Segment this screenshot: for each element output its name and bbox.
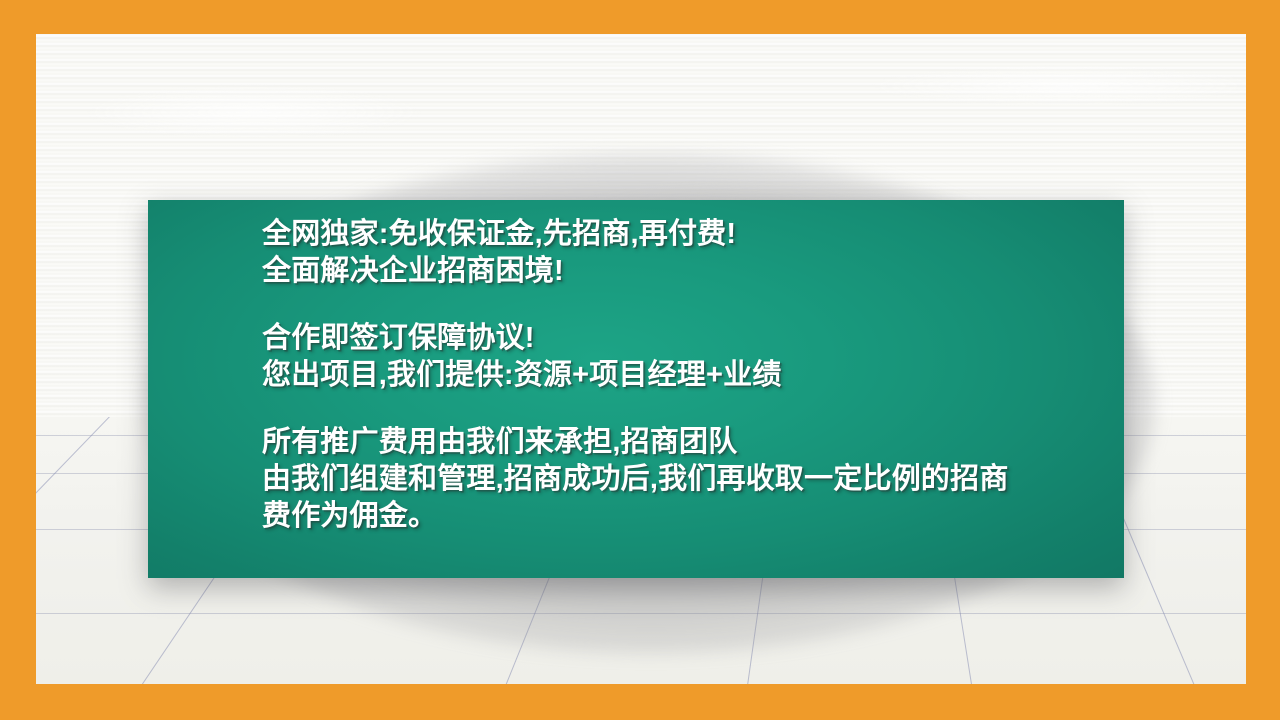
promo-line-1: 全网独家:免收保证金,先招商,再付费! bbox=[262, 216, 1104, 253]
promo-gap-2 bbox=[262, 394, 1104, 424]
floor-line-diagonal bbox=[1226, 417, 1246, 684]
frame-border-bottom bbox=[0, 684, 1280, 720]
promo-panel: 全网独家:免收保证金,先招商,再付费! 全面解决企业招商困境! 合作即签订保障协… bbox=[148, 200, 1124, 578]
promo-line-3: 合作即签订保障协议! bbox=[262, 320, 1104, 357]
promo-line-2: 全面解决企业招商困境! bbox=[262, 253, 1104, 290]
frame-border-top bbox=[0, 0, 1280, 34]
promo-line-7: 费作为佣金。 bbox=[262, 498, 1104, 535]
slide-canvas: 全网独家:免收保证金,先招商,再付费! 全面解决企业招商困境! 合作即签订保障协… bbox=[0, 0, 1280, 720]
promo-gap-1 bbox=[262, 290, 1104, 320]
promo-text-block: 全网独家:免收保证金,先招商,再付费! 全面解决企业招商困境! 合作即签订保障协… bbox=[262, 216, 1104, 578]
promo-line-6: 由我们组建和管理,招商成功后,我们再收取一定比例的招商 bbox=[262, 461, 1104, 498]
promo-line-5: 所有推广费用由我们来承担,招商团队 bbox=[262, 424, 1104, 461]
frame-border-left bbox=[0, 0, 36, 720]
room-stage: 全网独家:免收保证金,先招商,再付费! 全面解决企业招商困境! 合作即签订保障协… bbox=[36, 34, 1246, 684]
promo-line-4: 您出项目,我们提供:资源+项目经理+业绩 bbox=[262, 357, 1104, 394]
frame-border-right bbox=[1246, 0, 1280, 720]
